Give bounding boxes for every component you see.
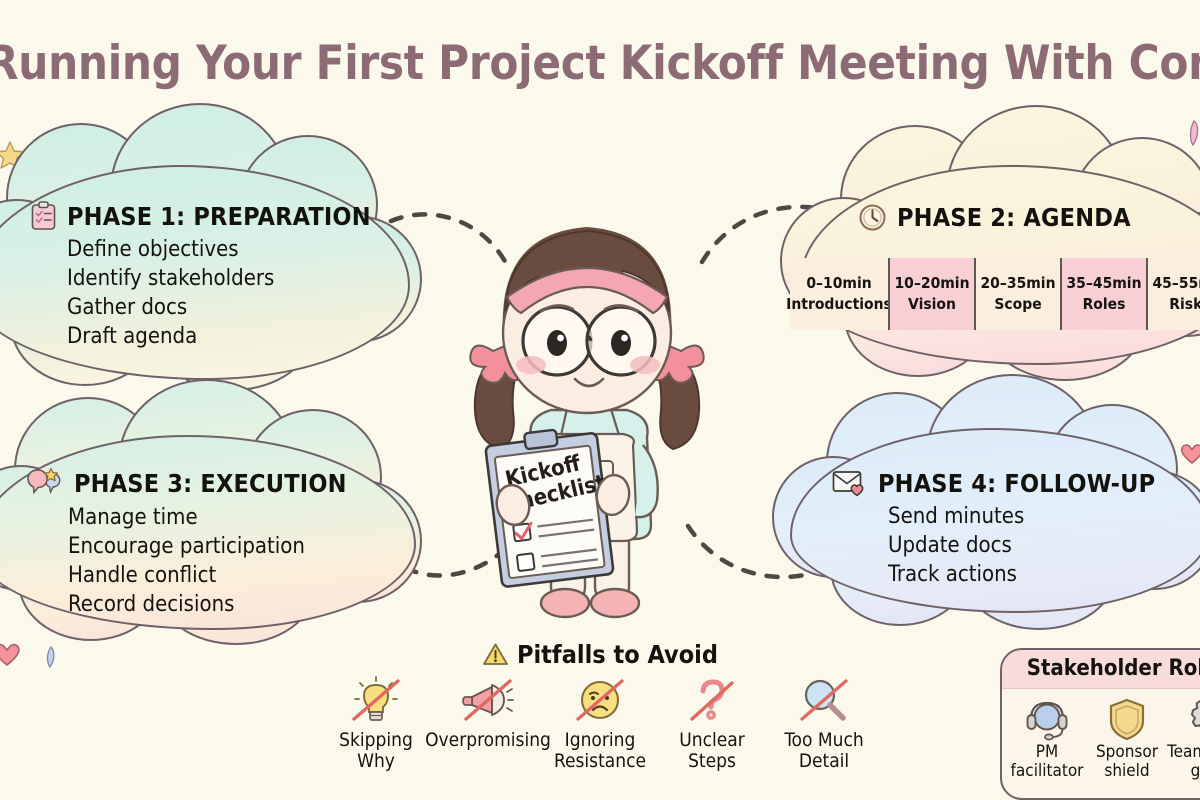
- megaphone-crossed-icon: [460, 675, 516, 727]
- pitfall-item-0-line1: Skipping: [339, 730, 413, 751]
- pitfall-item-4-line1: Too Much: [784, 730, 863, 751]
- speech-bubble-star-icon: [26, 467, 64, 499]
- pitfall-item-2-line2: Resistance: [554, 751, 646, 772]
- pitfall-item-3[interactable]: Unclear Steps: [660, 675, 764, 773]
- stakeholder-roles-list: PM facilitator Sponsor shield: [1002, 689, 1200, 781]
- pitfall-item-3-line2: Steps: [679, 751, 745, 772]
- phase-3-item-3: Record decisions: [68, 590, 416, 619]
- phase-3-item-0: Manage time: [68, 503, 416, 532]
- pitfall-item-3-line1: Unclear: [679, 730, 745, 751]
- stakeholder-item-0-line1: PM: [1011, 743, 1084, 762]
- pitfall-item-4-caption: Too Much Detail: [784, 730, 863, 773]
- phase-4-item-1: Update docs: [888, 531, 1200, 560]
- stakeholder-item-2-caption: Team Lead gear: [1167, 743, 1200, 781]
- clipboard-icon: [30, 201, 57, 231]
- clock-icon: [858, 203, 887, 232]
- character-illustration: Kickoff Checklist: [455, 205, 720, 625]
- phase-4-items: Send minutes Update docs Track actions: [832, 502, 1200, 589]
- envelope-heart-icon: [832, 468, 868, 498]
- stakeholder-item-0-line2: facilitator: [1011, 762, 1084, 781]
- phase-1-item-0: Define objectives: [67, 235, 410, 264]
- pitfall-item-4-line2: Detail: [784, 751, 863, 772]
- page-title: Running Your First Project Kickoff Meeti…: [0, 36, 1200, 91]
- pitfalls-title: Pitfalls to Avoid: [517, 640, 718, 669]
- phase-3-item-1: Encourage participation: [68, 532, 416, 561]
- stakeholder-item-2-line1: Team Lead: [1167, 743, 1200, 762]
- phase-2-heading-row: PHASE 2: AGENDA: [858, 203, 1200, 232]
- pitfall-item-4[interactable]: Too Much Detail: [772, 675, 876, 773]
- pitfall-item-0-line2: Why: [339, 751, 413, 772]
- pitfalls-section: Pitfalls to Avoid: [320, 640, 880, 773]
- phase-1-item-1: Identify stakeholders: [67, 264, 410, 293]
- phase-4-cloud: PHASE 4: FOLLOW-UP Send minutes Update d…: [790, 428, 1200, 613]
- pitfall-item-2[interactable]: Ignoring Resistance: [548, 675, 652, 773]
- blue-confetti-bottom-left: [40, 644, 60, 670]
- lightbulb-crossed-icon: [348, 675, 404, 727]
- heart-confetti-bottom-left: [0, 640, 22, 668]
- stakeholder-item-2-line2: gear: [1167, 762, 1200, 781]
- phase-1-items: Define objectives Identify stakeholders …: [30, 235, 410, 351]
- sad-face-crossed-icon: [572, 675, 628, 727]
- phase-2-cloud: PHASE 2: AGENDA: [800, 165, 1200, 365]
- phase-3-item-2: Handle conflict: [68, 561, 416, 590]
- phase-3-heading-row: PHASE 3: EXECUTION: [26, 467, 416, 499]
- phase-1-item-3: Draft agenda: [67, 322, 410, 351]
- pitfall-item-1[interactable]: Overpromising: [436, 675, 540, 773]
- pink-confetti-top-right: [1182, 118, 1200, 150]
- pitfall-item-0[interactable]: Skipping Why: [324, 675, 428, 773]
- phase-3-items: Manage time Encourage participation Hand…: [26, 503, 416, 619]
- pitfall-item-2-caption: Ignoring Resistance: [554, 730, 646, 773]
- phase-1-heading-row: PHASE 1: PREPARATION: [30, 201, 410, 231]
- pitfalls-title-row: Pitfalls to Avoid: [320, 640, 880, 669]
- shield-icon: [1106, 697, 1148, 741]
- stakeholder-item-0-caption: PM facilitator: [1011, 743, 1084, 781]
- phase-2-heading: PHASE 2: AGENDA: [897, 203, 1131, 232]
- phase-4-item-0: Send minutes: [888, 502, 1200, 531]
- stakeholder-item-1-line1: Sponsor: [1096, 743, 1158, 762]
- headset-icon: [1024, 697, 1070, 741]
- stakeholder-item-1[interactable]: Sponsor shield: [1088, 697, 1166, 781]
- infographic-canvas: Running Your First Project Kickoff Meeti…: [0, 0, 1200, 800]
- pitfall-item-1-caption: Overpromising: [425, 730, 551, 751]
- stakeholder-item-2[interactable]: Team Lead gear: [1168, 697, 1200, 781]
- warning-triangle-icon: [482, 642, 509, 667]
- phase-1-item-2: Gather docs: [67, 293, 410, 322]
- stakeholder-item-0[interactable]: PM facilitator: [1008, 697, 1086, 781]
- stakeholder-item-1-line2: shield: [1096, 762, 1158, 781]
- stakeholder-item-1-caption: Sponsor shield: [1096, 743, 1158, 781]
- pitfall-item-2-line1: Ignoring: [554, 730, 646, 751]
- phase-4-heading: PHASE 4: FOLLOW-UP: [878, 469, 1155, 498]
- pitfall-item-0-caption: Skipping Why: [339, 730, 413, 773]
- phase-3-cloud: PHASE 3: EXECUTION Manage time Encourage…: [0, 435, 416, 630]
- question-mark-crossed-icon: [684, 675, 740, 727]
- phase-4-item-2: Track actions: [888, 560, 1200, 589]
- pitfall-item-3-caption: Unclear Steps: [679, 730, 745, 773]
- pitfall-item-1-line1: Overpromising: [425, 730, 551, 751]
- phase-1-heading: PHASE 1: PREPARATION: [67, 202, 371, 231]
- pitfalls-list: Skipping Why: [320, 675, 880, 773]
- phase-3-heading: PHASE 3: EXECUTION: [74, 469, 347, 498]
- stakeholder-roles-title: Stakeholder Roles: [1002, 650, 1200, 689]
- gear-icon: [1186, 697, 1200, 741]
- phase-4-heading-row: PHASE 4: FOLLOW-UP: [832, 468, 1200, 498]
- stakeholder-roles-panel: Stakeholder Roles PM facilitator: [1000, 648, 1200, 800]
- magnifier-crossed-icon: [796, 675, 852, 727]
- phase-1-cloud: PHASE 1: PREPARATION Define objectives I…: [0, 165, 410, 380]
